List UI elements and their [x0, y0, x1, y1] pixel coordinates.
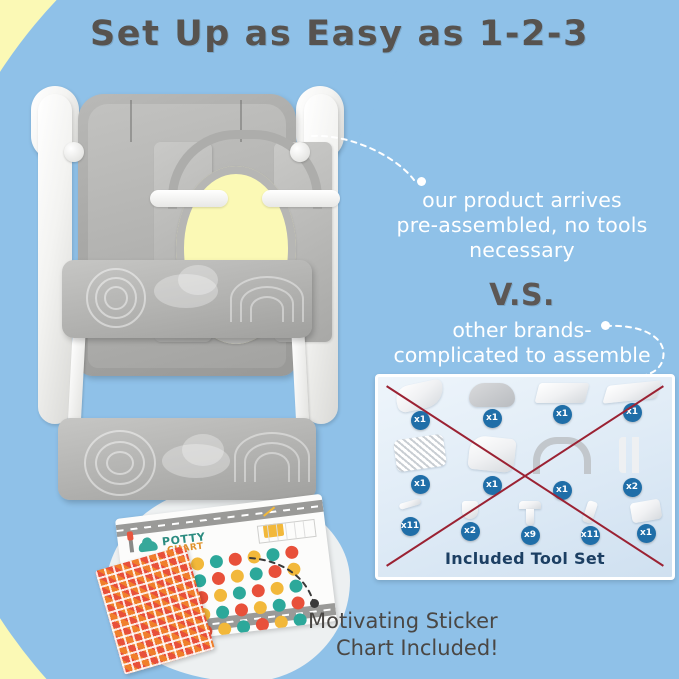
callout-pre-assembled-line3: necessary [372, 238, 672, 263]
tool-part-cell: x1 [618, 501, 674, 543]
sticker-dot [270, 581, 284, 595]
part-quantity-badge: x1 [553, 405, 572, 424]
tool-part-cell: x9 [502, 501, 558, 545]
tool-part-cell: x11 [382, 501, 438, 536]
tool-parts-row: x1 x1 x1 x2 [378, 437, 672, 499]
tool-set-caption: Included Tool Set [378, 549, 672, 568]
tool-part-cell: x11 [562, 501, 618, 545]
callout-pre-assembled: our product arrives pre-assembled, no to… [372, 188, 672, 263]
adjustment-bolt-left [64, 142, 84, 162]
tool-part-cell: x1 [600, 383, 664, 422]
sticker-dot [228, 552, 242, 566]
callout-pre-assembled-line2: pre-assembled, no tools [372, 213, 672, 238]
callout-pre-assembled-line1: our product arrives [372, 188, 672, 213]
sticker-dot [211, 571, 225, 585]
cover-cap-part-icon [629, 499, 662, 524]
seat-tab-left [150, 190, 228, 207]
part-quantity-badge: x9 [521, 526, 540, 545]
spiral-texture [104, 286, 128, 310]
callout-other-brands: other brands- complicated to assemble [366, 318, 678, 368]
step-platform-upper [62, 260, 312, 338]
sticker-dot [251, 583, 265, 597]
part-quantity-badge: x1 [411, 475, 430, 494]
seat-seam-left [130, 100, 132, 142]
tool-part-cell: x1 [388, 437, 452, 494]
callout-sticker-chart: Motivating Sticker Chart Included! [308, 608, 648, 662]
sticker-dot [291, 596, 305, 610]
sticker-dot [209, 554, 223, 568]
seat-tab-right [262, 190, 340, 207]
part-quantity-badge: x1 [483, 409, 502, 428]
small-pin-part-icon [399, 498, 422, 510]
cloud-texture [178, 265, 218, 295]
sticker-dot [249, 567, 263, 581]
sticker-dot [253, 600, 267, 614]
callout-sticker-chart-line1: Motivating Sticker [308, 609, 498, 633]
sticker-dot [285, 545, 299, 559]
tool-part-cell: x1 [530, 383, 594, 424]
step-platform-lower [58, 418, 316, 500]
part-quantity-badge: x2 [461, 522, 480, 541]
callout-sticker-chart-line2: Chart Included! [308, 635, 648, 662]
tool-parts-grid: x1 x1 x1 x1 x1 [378, 381, 672, 541]
product-image-potty-ladder-seat [22, 78, 352, 498]
long-rod-part-icon [619, 437, 645, 473]
sticker-dot [289, 579, 303, 593]
flat-panel-part-icon [535, 383, 590, 403]
cloud-texture [182, 434, 224, 466]
sticker-dot [190, 557, 204, 571]
sticker-dot [213, 588, 227, 602]
tool-part-cell: x1 [460, 437, 524, 495]
connector-dot-sticker-chart [310, 599, 319, 608]
potty-chart-name-field[interactable] [257, 519, 317, 544]
vs-label: V.S. [372, 278, 672, 313]
adjustment-bolt-right [290, 142, 310, 162]
mesh-net-part-icon [393, 434, 447, 473]
connector-dot-pre-assembled [417, 177, 426, 186]
tool-part-cell: x1 [530, 437, 594, 500]
tool-part-cell: x2 [442, 501, 498, 541]
sticker-dot [232, 586, 246, 600]
bolt-screw-shaft-icon [526, 509, 534, 525]
sticker-dot [266, 547, 280, 561]
bear-face-seat-part-icon [469, 383, 515, 407]
arc-texture [250, 296, 284, 322]
included-tool-set-panel: x1 x1 x1 x1 x1 [375, 374, 675, 580]
page-title: Set Up as Easy as 1-2-3 [0, 14, 679, 54]
part-quantity-badge: x11 [581, 526, 600, 545]
sticker-dot [230, 569, 244, 583]
toy-car-icon [138, 540, 158, 552]
bolt-screw-head-icon [519, 501, 541, 509]
sticker-dot [287, 562, 301, 576]
tool-part-cell: x1 [460, 383, 524, 428]
seat-ring-part-icon [533, 437, 591, 474]
sticker-dot [215, 605, 229, 619]
part-quantity-badge: x1 [637, 524, 656, 543]
callout-other-brands-line1: other brands- [366, 318, 678, 343]
part-quantity-badge: x2 [623, 478, 642, 497]
traffic-light-icon [128, 536, 134, 552]
connector-dot-other-brands [601, 321, 610, 330]
callout-other-brands-line2: complicated to assemble [366, 343, 678, 368]
sticker-dot [247, 550, 261, 564]
sticker-dot [234, 603, 248, 617]
spiral-texture [106, 451, 134, 475]
sticker-dot [268, 564, 282, 578]
tool-part-cell: x2 [600, 437, 664, 497]
infographic-page: Set Up as Easy as 1-2-3 [0, 0, 679, 679]
part-quantity-badge: x11 [401, 517, 420, 536]
arc-texture [254, 452, 290, 482]
sticker-dot [272, 598, 286, 612]
